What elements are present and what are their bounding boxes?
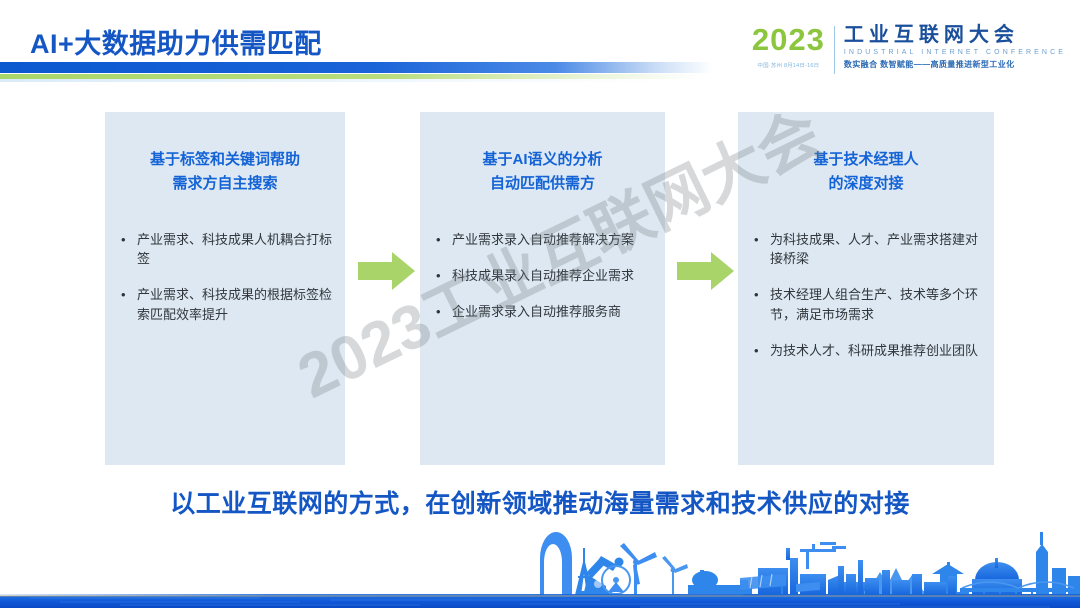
bullet-marker-icon: •: [121, 230, 137, 249]
arrow-right-icon: [677, 252, 734, 290]
list-item: • 企业需求录入自动推荐服务商: [436, 302, 653, 321]
card-bullet-list: • 产业需求、科技成果人机耦合打标签 • 产业需求、科技成果的根据标签检索匹配效…: [105, 196, 345, 324]
list-item: • 技术经理人组合生产、技术等多个环节，满足市场需求: [754, 285, 982, 323]
bullet-marker-icon: •: [436, 230, 452, 249]
slide-caption: 以工业互联网的方式，在创新领域推动海量需求和技术供应的对接: [0, 484, 1080, 520]
list-item-label: 科技成果录入自动推荐企业需求: [452, 266, 653, 285]
skyline-illustration: [0, 518, 1080, 608]
list-item-label: 产业需求、科技成果的根据标签检索匹配效率提升: [137, 285, 333, 323]
list-item: • 为技术人才、科研成果推荐创业团队: [754, 341, 982, 360]
tower-icon: [1036, 532, 1080, 595]
footer-skyline: [0, 518, 1080, 608]
arch-gate-icon: [540, 532, 572, 595]
card-bullet-list: • 为科技成果、人才、产业需求搭建对接桥梁 • 技术经理人组合生产、技术等多个环…: [738, 196, 994, 360]
list-item-label: 企业需求录入自动推荐服务商: [452, 302, 653, 321]
bullet-marker-icon: •: [121, 285, 137, 304]
card-search-by-tags[interactable]: 基于标签和关键词帮助 需求方自主搜索 • 产业需求、科技成果人机耦合打标签 • …: [105, 112, 345, 465]
list-item-label: 产业需求录入自动推荐解决方案: [452, 230, 653, 249]
list-item: • 科技成果录入自动推荐企业需求: [436, 266, 653, 285]
bullet-marker-icon: •: [436, 266, 452, 285]
list-item-label: 产业需求、科技成果人机耦合打标签: [137, 230, 333, 268]
bullet-marker-icon: •: [754, 341, 770, 360]
ferris-wheel-icon: [602, 566, 630, 594]
card-bullet-list: • 产业需求录入自动推荐解决方案 • 科技成果录入自动推荐企业需求 • 企业需求…: [420, 196, 665, 322]
list-item-label: 为科技成果、人才、产业需求搭建对接桥梁: [770, 230, 982, 268]
shoreline: [0, 595, 1080, 597]
card-title: 基于标签和关键词帮助 需求方自主搜索: [105, 112, 345, 196]
slide-canvas: AI+大数据助力供需匹配 2023 中国·苏州 8月14日-16日 工业互联网大…: [0, 0, 1080, 608]
list-item: • 产业需求、科技成果的根据标签检索匹配效率提升: [121, 285, 333, 323]
arrow-right-icon: [358, 252, 415, 290]
bullet-marker-icon: •: [754, 285, 770, 304]
card-technology-manager[interactable]: 基于技术经理人 的深度对接 • 为科技成果、人才、产业需求搭建对接桥梁 • 技术…: [738, 112, 994, 465]
list-item: • 为科技成果、人才、产业需求搭建对接桥梁: [754, 230, 982, 268]
card-title: 基于技术经理人 的深度对接: [738, 112, 994, 196]
card-ai-semantic-matching[interactable]: 基于AI语义的分析 自动匹配供需方 • 产业需求录入自动推荐解决方案 • 科技成…: [420, 112, 665, 465]
bullet-marker-icon: •: [754, 230, 770, 249]
crane-icon: [800, 542, 846, 569]
list-item: • 产业需求录入自动推荐解决方案: [436, 230, 653, 249]
wind-turbine-icon: [662, 556, 688, 595]
list-item-label: 为技术人才、科研成果推荐创业团队: [770, 341, 982, 360]
list-item: • 产业需求、科技成果人机耦合打标签: [121, 230, 333, 268]
card-title: 基于AI语义的分析 自动匹配供需方: [420, 112, 665, 196]
list-item-label: 技术经理人组合生产、技术等多个环节，满足市场需求: [770, 285, 982, 323]
bullet-marker-icon: •: [436, 302, 452, 321]
